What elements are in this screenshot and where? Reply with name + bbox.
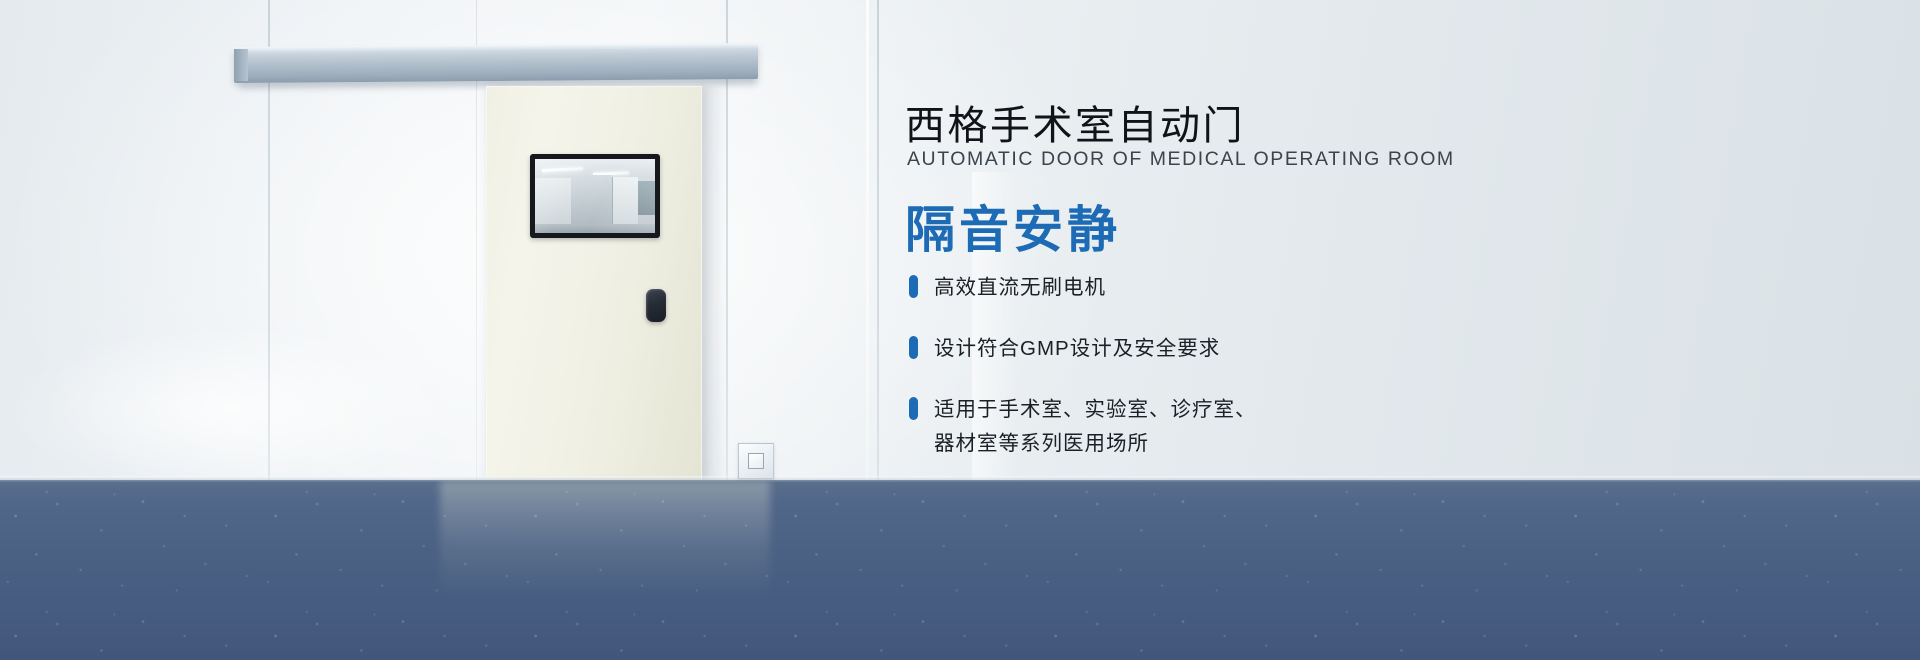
door-drop-shadow xyxy=(700,86,726,492)
list-item: 高效直流无刷电机 xyxy=(909,271,1529,305)
feature-list: 高效直流无刷电机 设计符合GMP设计及安全要求 适用于手术室、实验室、诊疗室、 … xyxy=(909,271,1529,461)
door-handle[interactable] xyxy=(646,289,666,322)
door-track-end-cap xyxy=(234,49,248,81)
list-item: 设计符合GMP设计及安全要求 xyxy=(909,332,1529,366)
wall-control-plate[interactable] xyxy=(738,443,774,479)
window-glass xyxy=(535,159,655,233)
page-subtitle: AUTOMATIC DOOR OF MEDICAL OPERATING ROOM xyxy=(907,148,1455,171)
bullet-marker-icon xyxy=(909,275,918,298)
plate-button-icon xyxy=(748,453,764,469)
bullet-marker-icon xyxy=(909,397,918,420)
door-floor-reflection xyxy=(440,480,770,600)
hospital-sliding-door xyxy=(486,86,702,492)
list-item: 适用于手术室、实验室、诊疗室、 器材室等系列医用场所 xyxy=(909,393,1529,461)
door-vision-window xyxy=(530,154,660,238)
headline: 隔音安静 xyxy=(905,190,1121,262)
page-title: 西格手术室自动门 xyxy=(905,93,1245,151)
product-banner: 西格手术室自动门 AUTOMATIC DOOR OF MEDICAL OPERA… xyxy=(0,0,1920,660)
feature-text: 适用于手术室、实验室、诊疗室、 器材室等系列医用场所 xyxy=(934,393,1257,461)
bullet-marker-icon xyxy=(909,336,918,359)
feature-text: 高效直流无刷电机 xyxy=(934,271,1106,305)
text-panel: 西格手术室自动门 AUTOMATIC DOOR OF MEDICAL OPERA… xyxy=(905,0,1920,580)
glass-reflection xyxy=(535,159,655,233)
feature-text: 设计符合GMP设计及安全要求 xyxy=(934,332,1220,366)
